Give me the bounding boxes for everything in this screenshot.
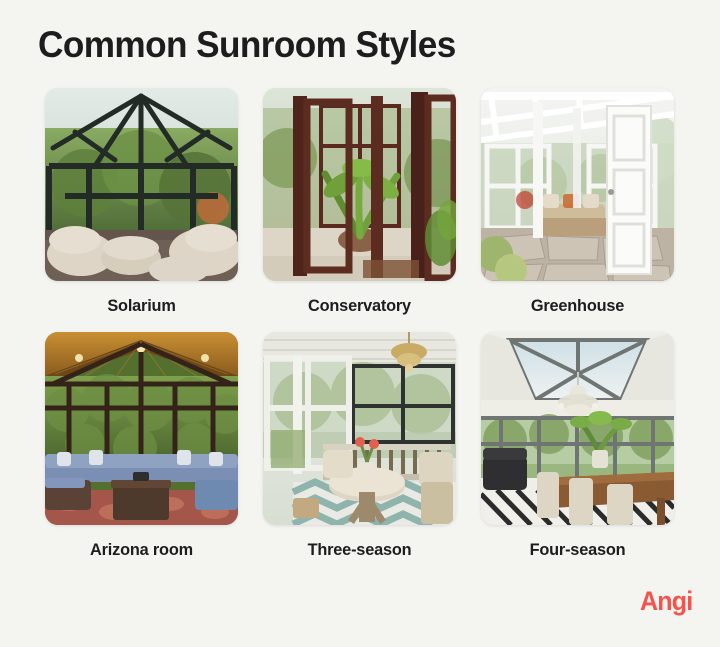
style-image-solarium [45,88,238,281]
style-image-arizona-room [45,332,238,525]
style-card-three-season[interactable]: Three-season [263,332,456,576]
style-card-arizona-room[interactable]: Arizona room [45,332,238,576]
style-card-greenhouse[interactable]: Greenhouse [481,88,674,332]
style-image-greenhouse [481,88,674,281]
style-card-solarium[interactable]: Solarium [45,88,238,332]
style-label-three-season: Three-season [267,540,452,560]
style-image-four-season [481,332,674,525]
page-title: Common Sunroom Styles [38,24,456,66]
style-card-four-season[interactable]: Four-season [481,332,674,576]
style-label-conservatory: Conservatory [267,296,452,316]
style-label-solarium: Solarium [49,296,234,316]
style-label-four-season: Four-season [485,540,670,560]
style-label-arizona-room: Arizona room [49,540,234,560]
style-label-greenhouse: Greenhouse [485,296,670,316]
angi-logo[interactable]: Angi [640,586,692,617]
style-image-three-season [263,332,456,525]
style-image-conservatory [263,88,456,281]
sunroom-style-grid: Solarium [45,88,675,576]
style-card-conservatory[interactable]: Conservatory [263,88,456,332]
infographic-root: Common Sunroom Styles [0,0,720,647]
